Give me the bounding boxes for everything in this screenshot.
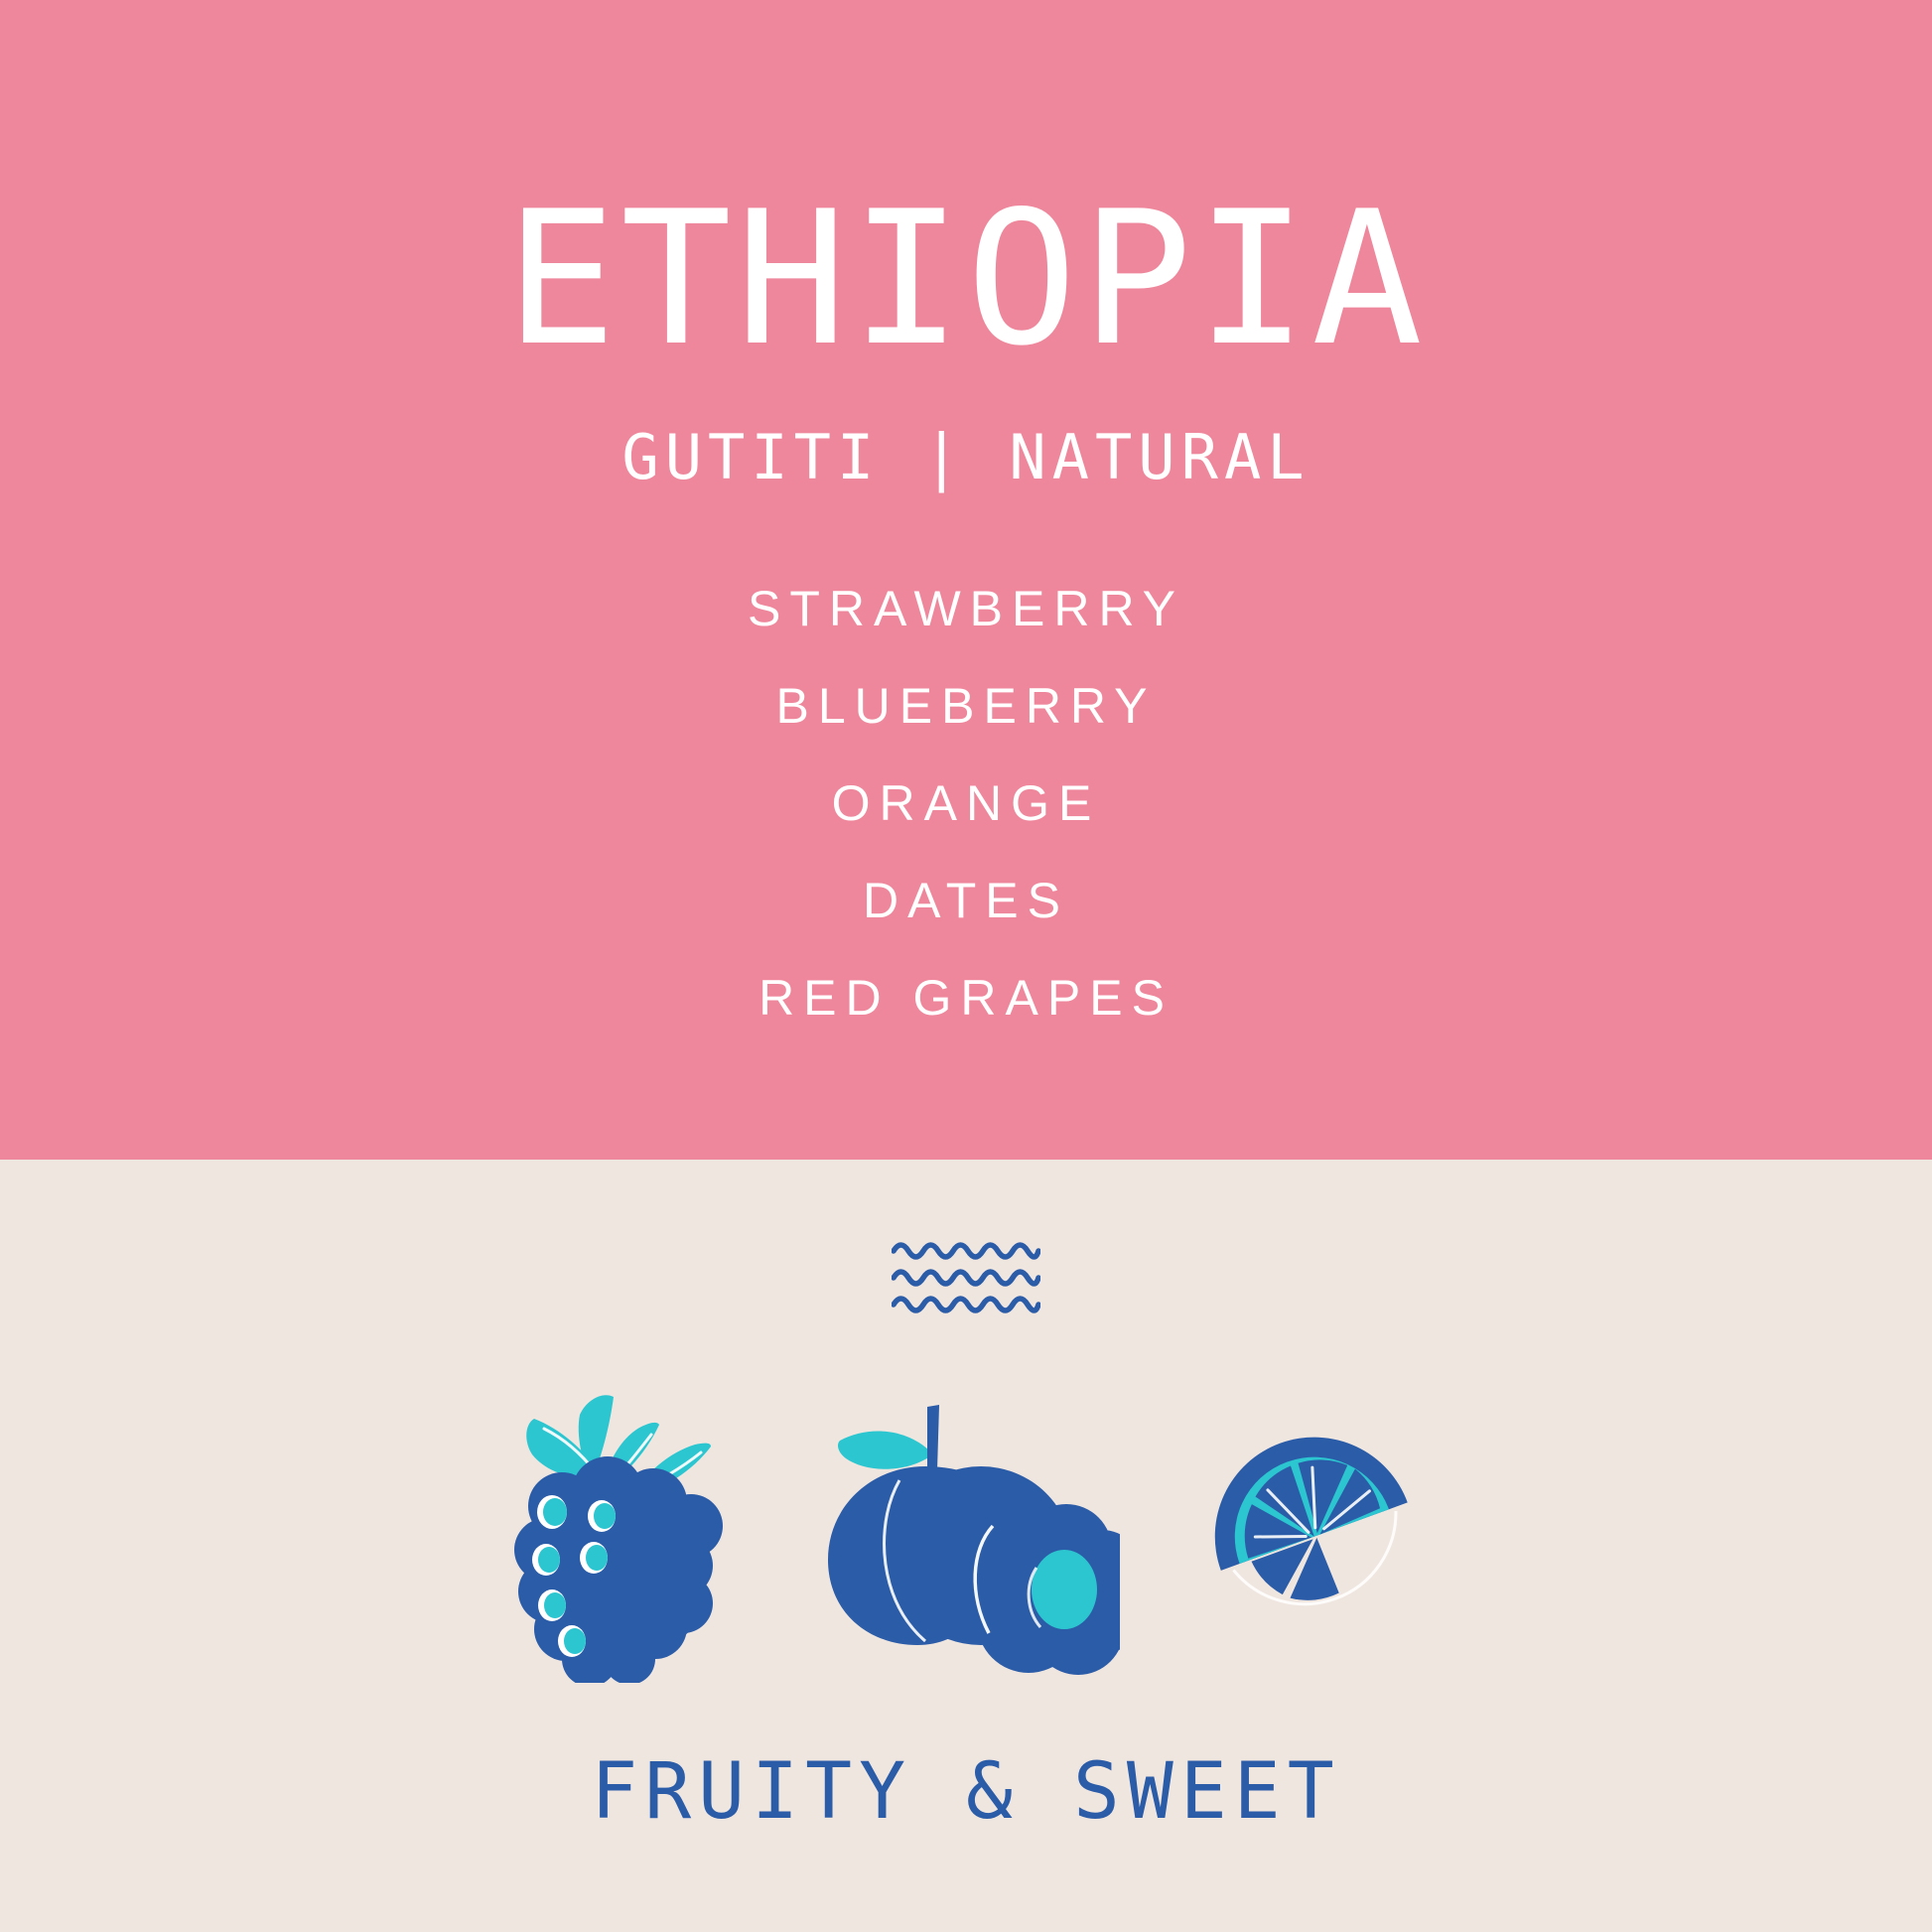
flavor-profile-label: FRUITY & SWEET xyxy=(0,1753,1932,1831)
tasting-notes-list: STRAWBERRY BLUEBERRY ORANGE DATES RED GR… xyxy=(0,584,1932,1023)
origin-header-band: ETHIOPIA GUTITI | NATURAL STRAWBERRY BLU… xyxy=(0,0,1932,1160)
list-item: DATES xyxy=(0,876,1932,925)
plum-icon xyxy=(822,1385,1120,1683)
list-item: RED GRAPES xyxy=(0,973,1932,1023)
list-item: BLUEBERRY xyxy=(0,681,1932,731)
citrus-wedge-icon xyxy=(1197,1385,1426,1683)
fruit-icon-row xyxy=(0,1385,1932,1713)
blackberry-icon xyxy=(506,1385,745,1683)
coffee-label-card: ETHIOPIA GUTITI | NATURAL STRAWBERRY BLU… xyxy=(0,0,1932,1932)
wave-divider-icon xyxy=(892,1239,1040,1316)
list-item: ORANGE xyxy=(0,778,1932,828)
page-title: ETHIOPIA xyxy=(0,187,1932,371)
origin-subtitle: GUTITI | NATURAL xyxy=(0,427,1932,488)
list-item: STRAWBERRY xyxy=(0,584,1932,633)
